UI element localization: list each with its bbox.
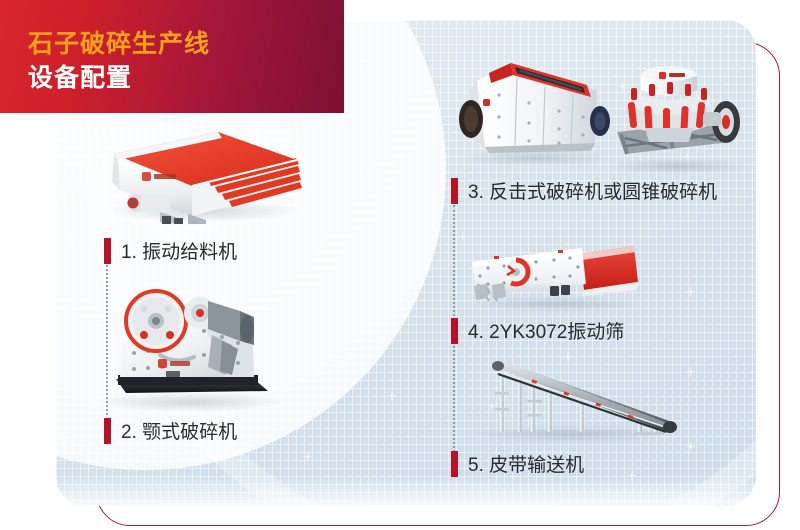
sparkle-icon: [356, 55, 369, 68]
step-label-text: 2. 颚式破碎机: [121, 417, 237, 444]
step-label-text: 4. 2YK3072振动筛: [468, 317, 624, 344]
header-title-line-2: 设备配置: [28, 58, 132, 94]
step-marker-bar: [451, 318, 458, 344]
step-marker-bar: [104, 418, 111, 444]
equipment-impact-crusher: [455, 47, 615, 159]
step-label-text: 1. 振动给料机: [121, 237, 237, 264]
step-marker-bar: [451, 178, 458, 204]
step-label-1[interactable]: 1. 振动给料机: [104, 237, 237, 264]
sparkle-icon: [81, 115, 95, 129]
step-label-text: 5. 皮带输送机: [468, 450, 584, 477]
step-marker-bar: [104, 238, 111, 264]
step-label-text: 3. 反击式破碎机或圆锥破碎机: [468, 177, 717, 204]
equipment-vibrating-screen: [462, 228, 642, 308]
step-label-3[interactable]: 3. 反击式破碎机或圆锥破碎机: [451, 177, 717, 204]
infographic-canvas: 石子破碎生产线 设备配置 1. 振动给料机 2. 颚式破碎机 3. 反击式破碎机…: [0, 0, 800, 530]
sparkle-icon: [386, 390, 398, 402]
header-banner: 石子破碎生产线 设备配置: [0, 0, 344, 113]
step-label-2[interactable]: 2. 颚式破碎机: [104, 417, 237, 444]
sparkle-icon: [64, 235, 76, 247]
equipment-belt-conveyor: [468, 358, 688, 443]
equipment-jaw-crusher: [104, 283, 284, 401]
step-label-5[interactable]: 5. 皮带输送机: [451, 450, 584, 477]
header-title-line-1: 石子破碎生产线: [28, 24, 210, 60]
sparkle-icon: [684, 285, 697, 298]
sparkle-icon: [301, 450, 315, 464]
step-marker-bar: [451, 451, 458, 477]
step-label-4[interactable]: 4. 2YK3072振动筛: [451, 317, 624, 344]
equipment-vibrating-feeder: [100, 124, 305, 224]
equipment-cone-crusher: [605, 50, 753, 165]
sparkle-icon: [626, 470, 638, 482]
